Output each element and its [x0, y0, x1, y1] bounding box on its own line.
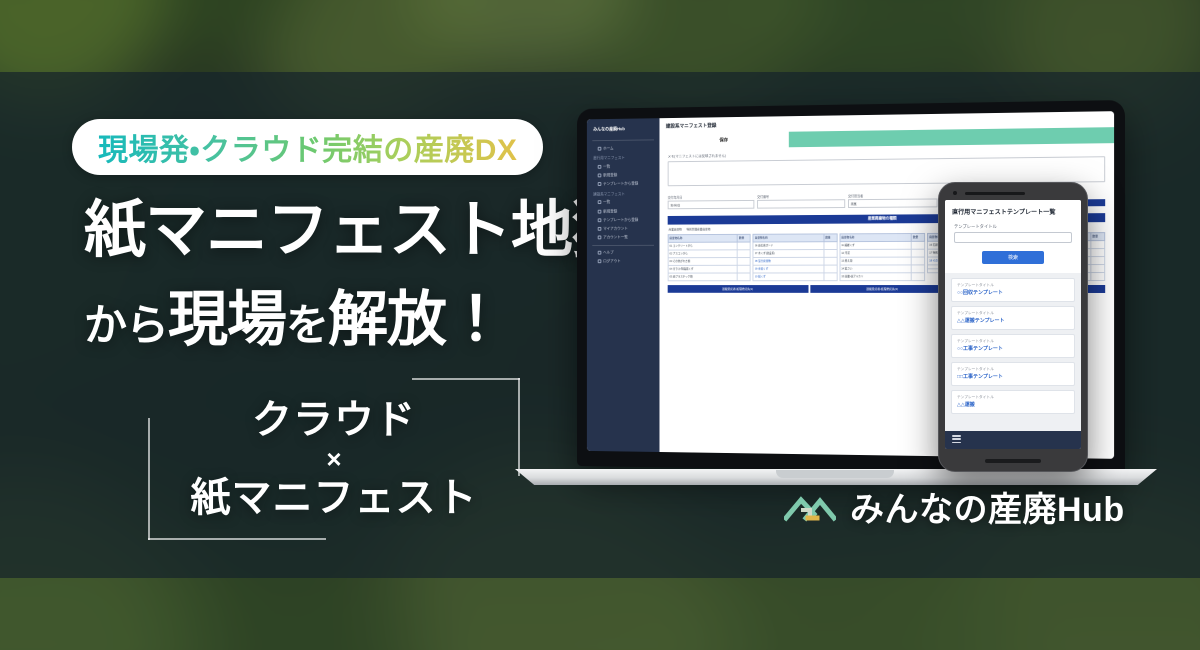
field-issuer-input[interactable]: 所属: [848, 198, 938, 207]
sidebar-item-kensetsu-list-label: 一覧: [603, 200, 610, 206]
list-item-caption: テンプレートタイトル: [957, 395, 1069, 400]
save-button[interactable]: 保存: [659, 132, 788, 149]
waste-row-qty[interactable]: [823, 273, 836, 280]
phone-template-list: テンプレートタイトル ○○回収テンプレート テンプレートタイトル △△運搬テンプ…: [945, 273, 1081, 431]
help-icon: [598, 251, 602, 255]
list-item-caption: テンプレートタイトル: [957, 339, 1069, 344]
waste-col-header-qty: 数量: [911, 234, 924, 241]
radio-option-industrial[interactable]: 産業廃棄物: [669, 227, 682, 231]
list-item-caption: テンプレートタイトル: [957, 283, 1069, 288]
sidebar-item-chokkou-template-label: テンプレートから登録: [603, 181, 638, 187]
list-item-name: □□工事テンプレート: [957, 373, 1069, 380]
phone-home-indicator: [985, 459, 1041, 463]
waste-row-label: 09 金属くず: [754, 265, 823, 272]
waste-row-qty[interactable]: [737, 242, 750, 249]
waste-col-header-name: 廃棄物名称: [669, 235, 737, 242]
waste-row-label: 06 廃石膏ボード: [754, 242, 823, 249]
waste-column-header: 廃棄物名称 数量: [668, 234, 751, 243]
laptop-base-notch: [776, 470, 894, 478]
waste-column: 廃棄物名称 数量 06 廃石膏ボード 07 木くず(建設系) 08 混合廃棄物 …: [753, 233, 838, 281]
phone-body: 直行用マニフェストテンプレート一覧 テンプレートタイトル 検索 テンプレートタイ…: [938, 182, 1088, 472]
phone-search-input[interactable]: [954, 232, 1072, 243]
waste-row-qty[interactable]: [1090, 257, 1104, 264]
chevron-mountain-logo-icon: [784, 488, 836, 526]
phone-camera-icon: [953, 191, 957, 195]
list-item-name: △△運搬テンプレート: [957, 317, 1069, 324]
pencil-icon: [598, 173, 602, 177]
table-row[interactable]: 12 汚泥: [839, 249, 925, 257]
sidebar-item-account-list-label: アカウント一覧: [603, 235, 628, 241]
waste-row-qty[interactable]: [737, 273, 750, 280]
waste-row-qty[interactable]: [911, 265, 924, 272]
table-row[interactable]: 02 アスコンがら: [668, 250, 751, 258]
field-issue-number-input[interactable]: [757, 199, 845, 208]
table-row[interactable]: 13 燃え殻: [839, 257, 925, 265]
sidebar-divider-2: [592, 245, 654, 246]
waste-col-header-qty: 数量: [737, 235, 750, 242]
list-item-caption: テンプレートタイトル: [957, 311, 1069, 316]
waste-col-header-name: 廃棄物名称: [840, 234, 910, 241]
waste-row-label: 13 燃え殻: [840, 257, 910, 264]
waste-column-header: 廃棄物名称 数量: [839, 233, 925, 242]
waste-row-qty[interactable]: [823, 258, 836, 265]
waste-row-label: 08 混合廃棄物: [754, 258, 823, 265]
table-row[interactable]: 15 廃酸・廃アルカリ: [839, 273, 925, 281]
table-row[interactable]: 14 鉱さい: [839, 265, 925, 273]
phone-speaker-icon: [965, 192, 1025, 195]
home-icon: [598, 146, 602, 150]
radio-option-special[interactable]: 特別管理産業廃棄物: [686, 227, 710, 231]
phone-field-label: テンプレートタイトル: [954, 224, 1072, 230]
waste-row-qty[interactable]: [911, 257, 924, 264]
waste-column-header: 廃棄物名称 数量: [753, 233, 838, 242]
table-row[interactable]: 03 その他がれき類: [668, 258, 751, 266]
field-issue-number-label: 交付番号: [757, 193, 845, 199]
sidebar-item-help-label: ヘルプ: [603, 250, 614, 256]
sidebar-item-logout-label: ログアウト: [603, 259, 621, 265]
list-item[interactable]: テンプレートタイトル △△運搬テンプレート: [951, 306, 1075, 330]
list-item-name: ○○工事テンプレート: [957, 345, 1069, 352]
list-item-name: △△運搬: [957, 401, 1069, 408]
list-item[interactable]: テンプレートタイトル □□工事テンプレート: [951, 362, 1075, 386]
phone-screen: 直行用マニフェストテンプレート一覧 テンプレートタイトル 検索 テンプレートタイ…: [945, 200, 1081, 449]
hamburger-menu-icon[interactable]: [952, 435, 961, 445]
field-issue-date: 交付年月日 年/月/日: [668, 194, 755, 209]
phone-search-form: テンプレートタイトル 検索: [945, 222, 1081, 273]
table-row[interactable]: 07 木くず(建設系): [753, 250, 838, 258]
sidebar-item-account-list[interactable]: アカウント一覧: [590, 233, 655, 242]
sidebar-item-kensetsu-new[interactable]: 新規登録: [590, 206, 655, 215]
phone-page-title: 直行用マニフェストテンプレート一覧: [945, 200, 1081, 222]
waste-row-qty[interactable]: [911, 249, 924, 256]
waste-row-qty[interactable]: [1090, 265, 1104, 272]
waste-row-label: 01 コンクリートがら: [669, 242, 737, 249]
sidebar-section-kensetsu-title: 建設系マニフェスト: [590, 188, 655, 198]
waste-col-header-name: 廃棄物名称: [754, 234, 823, 241]
template-icon: [598, 218, 602, 222]
sidebar-item-kensetsu-template[interactable]: テンプレートから登録: [590, 215, 655, 224]
waste-row-qty[interactable]: [823, 250, 836, 257]
waste-row-qty[interactable]: [1090, 273, 1104, 280]
sidebar-item-kensetsu-template-label: テンプレートから登録: [603, 217, 638, 223]
pencil-icon: [598, 209, 602, 213]
list-item-name: ○○回収テンプレート: [957, 289, 1069, 296]
waste-col-header-qty: 数量: [823, 234, 836, 241]
waste-col-header-qty: 数量: [1090, 233, 1104, 240]
list-icon: [598, 165, 602, 169]
hero-banner: 現場発・クラウド完結の産廃DX 紙マニフェスト地獄 から 現場 を 解放！ クラ…: [0, 0, 1200, 650]
waste-row-qty[interactable]: [1090, 241, 1104, 248]
list-item[interactable]: テンプレートタイトル ○○工事テンプレート: [951, 334, 1075, 358]
phone-bottom-nav: [945, 431, 1081, 449]
field-issue-date-label: 交付年月日: [668, 194, 755, 200]
waste-row-qty[interactable]: [737, 258, 750, 265]
waste-row-label: 12 汚泥: [840, 250, 910, 257]
logout-icon: [598, 260, 602, 264]
phone-device: 直行用マニフェストテンプレート一覧 テンプレートタイトル 検索 テンプレートタイ…: [938, 182, 1088, 472]
sidebar-item-chokkou-new-label: 新規登録: [603, 172, 617, 178]
waste-row-label: 14 鉱さい: [840, 265, 910, 272]
sidebar-item-help[interactable]: ヘルプ: [590, 248, 655, 257]
sidebar-logo: みんなの産廃Hub: [590, 123, 655, 137]
waste-row-label: 07 木くず(建設系): [754, 250, 823, 257]
table-row[interactable]: 10 紙くず: [753, 273, 838, 281]
waste-row-label: 05 廃プラスチック類: [669, 273, 737, 280]
waste-row-label: 11 繊維くず: [840, 242, 910, 249]
waste-row-qty[interactable]: [737, 266, 750, 273]
sidebar-item-my-account-label: マイアカウント: [603, 226, 628, 232]
sidebar-divider-1: [592, 139, 654, 141]
sidebar-item-my-account[interactable]: マイアカウント: [590, 224, 655, 233]
list-icon: [598, 201, 602, 205]
template-icon: [598, 182, 602, 186]
waste-row-qty[interactable]: [911, 273, 924, 280]
app-sidebar: みんなの産廃Hub ホーム 直行用マニフェスト 一覧: [587, 118, 660, 452]
waste-column: 廃棄物名称 数量 11 繊維くず 12 汚泥 13 燃え殻 14 鉱さい 15 …: [839, 233, 925, 281]
waste-row-qty[interactable]: [1090, 249, 1104, 256]
sidebar-item-kensetsu-new-label: 新規登録: [603, 208, 617, 214]
sidebar-item-chokkou-list-label: 一覧: [603, 164, 610, 170]
list-item[interactable]: テンプレートタイトル △△運搬: [951, 390, 1075, 414]
waste-row-qty[interactable]: [737, 250, 750, 257]
field-issue-number: 交付番号: [757, 193, 845, 208]
sidebar-item-logout[interactable]: ログアウト: [590, 257, 655, 266]
table-row[interactable]: 05 廃プラスチック類: [668, 273, 751, 281]
field-issuer: 交付担当者 所属: [848, 193, 938, 208]
table-row[interactable]: 09 金属くず: [753, 265, 838, 273]
footer-button-carrier-1[interactable]: 運搬受託者・処理委託先(1): [668, 285, 809, 293]
waste-column: 廃棄物名称 数量 01 コンクリートがら 02 アスコンがら 03 その他がれき…: [668, 234, 751, 281]
waste-row-label: 10 紙くず: [754, 273, 823, 280]
list-item[interactable]: テンプレートタイトル ○○回収テンプレート: [951, 278, 1075, 302]
device-mockups: みんなの産廃Hub ホーム 直行用マニフェスト 一覧: [0, 0, 1200, 650]
footer-button-carrier-2[interactable]: 運搬受託者・処理委託先(2): [810, 285, 955, 293]
brand-lockup: みんなの産廃Hub: [784, 482, 1125, 531]
waste-row-label: 15 廃酸・廃アルカリ: [840, 273, 910, 280]
phone-search-button[interactable]: 検索: [982, 251, 1044, 264]
table-row[interactable]: 08 混合廃棄物: [753, 258, 838, 266]
table-row[interactable]: 04 ガラス・陶磁器くず: [668, 266, 751, 274]
users-icon: [598, 236, 602, 240]
user-icon: [598, 227, 602, 231]
waste-row-qty[interactable]: [823, 242, 836, 249]
field-issue-date-input[interactable]: 年/月/日: [668, 200, 755, 209]
sidebar-item-home-label: ホーム: [603, 145, 613, 151]
waste-row-qty[interactable]: [911, 242, 924, 249]
waste-row-label: 03 その他がれき類: [669, 258, 737, 265]
list-item-caption: テンプレートタイトル: [957, 367, 1069, 372]
waste-row-qty[interactable]: [823, 265, 836, 272]
brand-name: みんなの産廃Hub: [850, 482, 1125, 531]
field-issuer-label: 交付担当者: [848, 193, 938, 199]
waste-row-label: 04 ガラス・陶磁器くず: [669, 266, 737, 273]
waste-row-label: 02 アスコンがら: [669, 250, 737, 257]
